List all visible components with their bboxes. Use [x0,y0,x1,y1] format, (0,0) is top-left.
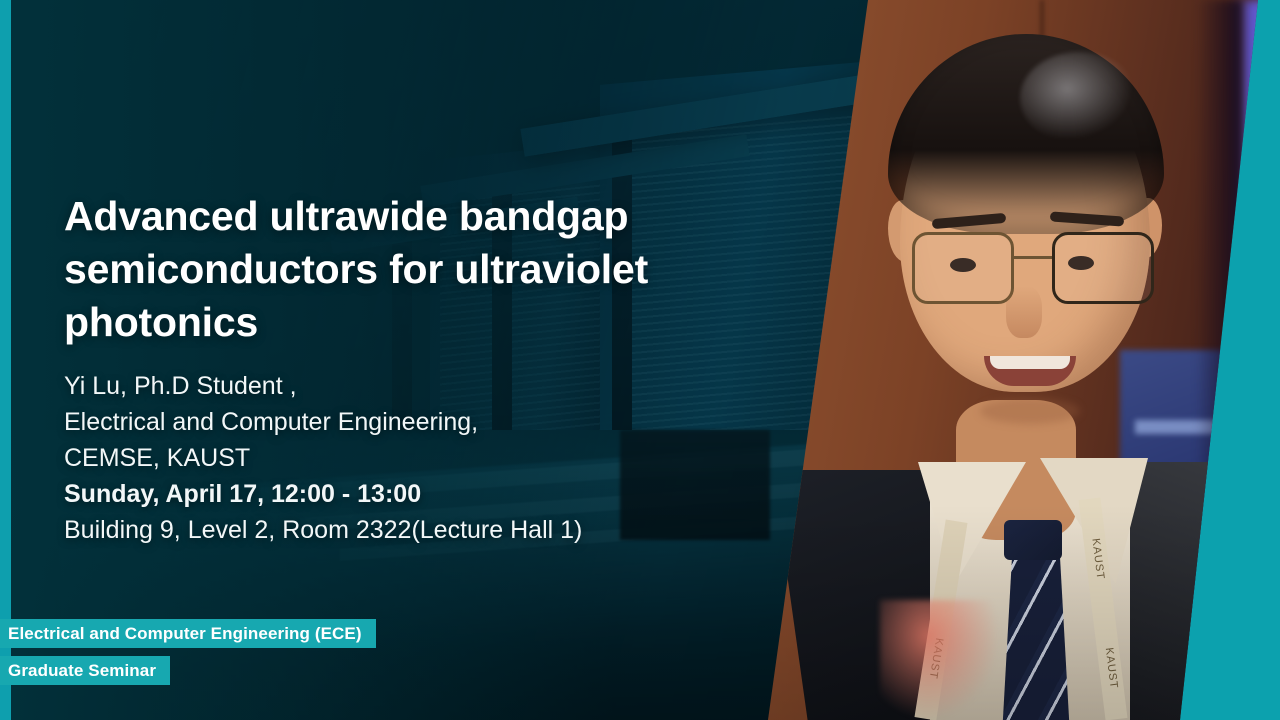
seminar-datetime: Sunday, April 17, 12:00 - 13:00 [64,476,764,512]
badge-row-series: Graduate Seminar [0,656,376,685]
badge-series: Graduate Seminar [0,656,170,685]
title-line-3: photonics [64,296,764,349]
title-line-1: Advanced ultrawide bandgap [64,190,764,243]
left-accent-stripe [0,0,11,720]
seminar-title: Advanced ultrawide bandgap semiconductor… [64,190,764,349]
badge-department: Electrical and Computer Engineering (ECE… [0,619,376,648]
seminar-details: Yi Lu, Ph.D Student , Electrical and Com… [64,368,764,548]
seminar-location: Building 9, Level 2, Room 2322(Lecture H… [64,512,764,548]
badge-group: Electrical and Computer Engineering (ECE… [0,619,376,685]
title-line-2: semiconductors for ultraviolet [64,243,764,296]
speaker-affiliation: CEMSE, KAUST [64,440,764,476]
seminar-slide: KAUST KAUST KAUST Advance [0,0,1280,720]
badge-row-department: Electrical and Computer Engineering (ECE… [0,619,376,648]
speaker-name: Yi Lu, Ph.D Student , [64,368,764,404]
speaker-department: Electrical and Computer Engineering, [64,404,764,440]
